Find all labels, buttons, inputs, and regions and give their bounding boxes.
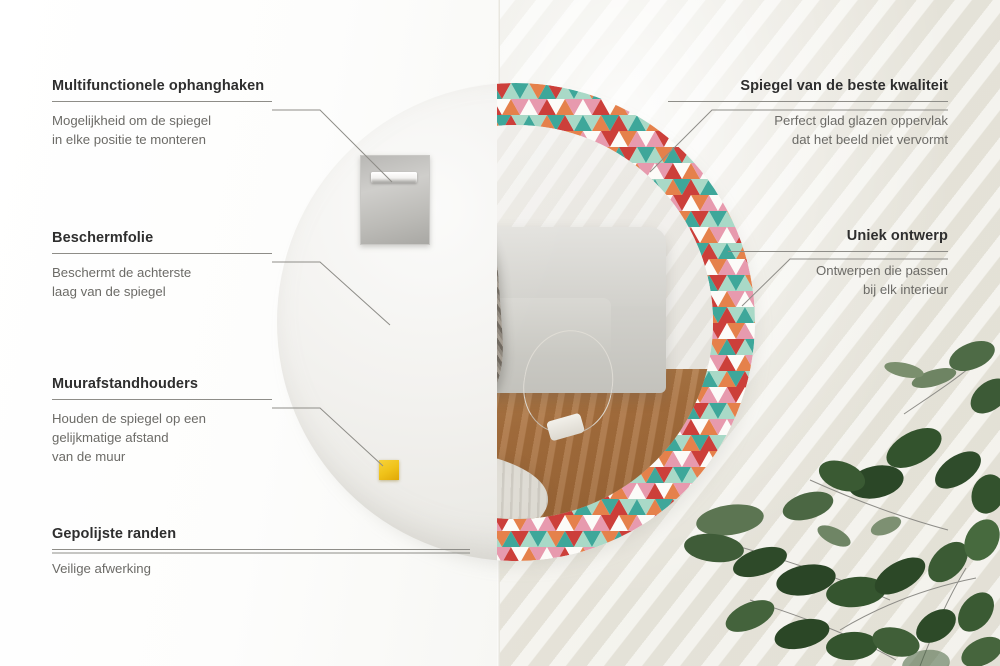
triangle-tile: [295, 99, 313, 115]
triangle-tile: [349, 115, 367, 131]
triangle-tile: [754, 163, 755, 179]
callout-rule: [52, 101, 272, 102]
triangle-tile: [313, 483, 331, 499]
triangle-tile: [277, 451, 295, 467]
product-mirror: [277, 83, 755, 561]
triangle-tile: [754, 515, 755, 531]
callout-title: Uniek ontwerp: [728, 228, 948, 244]
triangle-tile: [754, 211, 755, 227]
callout-title: Muurafstandhouders: [52, 376, 272, 392]
triangle-tile: [349, 99, 367, 115]
triangle-tile: [367, 99, 385, 115]
callout-rule: [668, 101, 948, 102]
triangle-tile: [277, 499, 286, 515]
triangle-tile: [304, 499, 322, 515]
callout-title: Spiegel van de beste kwaliteit: [668, 78, 948, 94]
triangle-tile: [277, 211, 295, 227]
triangle-tile: [358, 99, 376, 115]
triangle-tile: [277, 211, 286, 227]
callout-rule: [52, 549, 470, 550]
triangle-tile: [277, 131, 286, 147]
triangle-tile: [286, 115, 304, 131]
triangle-tile: [277, 467, 295, 483]
triangle-tile: [322, 499, 340, 515]
triangle-tile: [277, 467, 286, 483]
triangle-tile: [331, 499, 349, 515]
triangle-tile: [331, 131, 349, 147]
callout-description: Veilige afwerking: [52, 559, 470, 578]
triangle-tile: [313, 115, 331, 131]
triangle-tile: [277, 147, 286, 163]
callout-description: Perfect glad glazen oppervlak dat het be…: [668, 111, 948, 149]
triangle-tile: [754, 483, 755, 499]
triangle-tile: [304, 83, 322, 99]
triangle-tile: [277, 419, 295, 435]
triangle-tile: [754, 339, 755, 355]
callout-wall-spacers: Muurafstandhouders Houden de spiegel op …: [52, 376, 272, 466]
callout-description: Beschermt de achterste laag van de spieg…: [52, 263, 272, 301]
triangle-tile: [286, 179, 304, 195]
callout-rule: [52, 253, 272, 254]
triangle-tile: [277, 483, 295, 499]
triangle-tile: [313, 499, 331, 515]
triangle-tile: [322, 99, 340, 115]
triangle-tile: [277, 115, 295, 131]
triangle-tile: [277, 115, 286, 131]
triangle-tile: [295, 483, 313, 499]
triangle-tile: [277, 179, 286, 195]
triangle-tile: [331, 83, 349, 99]
callout-title: Multifunctionele ophanghaken: [52, 78, 272, 94]
triangle-tile: [277, 387, 286, 403]
callout-title: Gepolijste randen: [52, 526, 470, 542]
triangle-tile: [286, 83, 304, 99]
triangle-tile: [286, 435, 304, 451]
infographic-canvas: Multifunctionele ophanghaken Mogelijkhei…: [0, 0, 1000, 666]
triangle-tile: [754, 307, 755, 323]
triangle-tile: [331, 99, 349, 115]
triangle-tile: [331, 115, 349, 131]
triangle-tile: [286, 451, 304, 467]
triangle-tile: [394, 83, 412, 99]
triangle-tile: [304, 163, 322, 179]
triangle-tile: [322, 83, 340, 99]
triangle-tile: [367, 83, 385, 99]
triangle-tile: [277, 451, 286, 467]
triangle-tile: [295, 499, 313, 515]
triangle-tile: [277, 499, 295, 515]
triangle-tile: [286, 131, 304, 147]
triangle-tile: [277, 419, 286, 435]
triangle-tile: [277, 227, 286, 243]
triangle-tile: [295, 163, 313, 179]
triangle-tile: [286, 99, 304, 115]
triangle-tile: [295, 83, 313, 99]
triangle-tile: [277, 131, 295, 147]
triangle-tile: [295, 467, 313, 483]
triangle-tile: [340, 83, 358, 99]
triangle-tile: [304, 147, 322, 163]
triangle-tile: [754, 147, 755, 163]
triangle-tile: [376, 99, 394, 115]
triangle-tile: [277, 243, 286, 259]
triangle-tile: [754, 179, 755, 195]
triangle-tile: [754, 451, 755, 467]
triangle-tile: [277, 147, 295, 163]
triangle-tile: [322, 483, 340, 499]
callout-best-quality-mirror: Spiegel van de beste kwaliteit Perfect g…: [668, 78, 948, 149]
triangle-tile: [322, 147, 340, 163]
callout-rule: [728, 251, 948, 252]
callout-unique-design: Uniek ontwerp Ontwerpen die passen bij e…: [728, 228, 948, 299]
triangle-tile: [286, 195, 304, 211]
callout-description: Ontwerpen die passen bij elk interieur: [728, 261, 948, 299]
triangle-tile: [277, 179, 295, 195]
triangle-tile: [286, 147, 304, 163]
triangle-tile: [286, 467, 304, 483]
triangle-tile: [286, 483, 304, 499]
triangle-tile: [754, 195, 755, 211]
triangle-tile: [754, 531, 755, 547]
triangle-tile: [277, 435, 286, 451]
triangle-tile: [322, 115, 340, 131]
triangle-tile: [295, 147, 313, 163]
triangle-tile: [277, 195, 286, 211]
triangle-tile: [340, 115, 358, 131]
triangle-tile: [277, 163, 295, 179]
triangle-tile: [286, 163, 304, 179]
triangle-tile: [277, 195, 295, 211]
callout-title: Beschermfolie: [52, 230, 272, 246]
triangle-tile: [277, 99, 286, 115]
triangle-tile: [754, 355, 755, 371]
triangle-tile: [754, 419, 755, 435]
callout-description: Mogelijkheid om de spiegel in elke posit…: [52, 111, 272, 149]
triangle-tile: [304, 483, 322, 499]
triangle-tile: [412, 83, 430, 99]
triangle-tile: [313, 147, 331, 163]
triangle-tile: [295, 115, 313, 131]
triangle-tile: [277, 403, 286, 419]
triangle-tile: [754, 467, 755, 483]
triangle-tile: [295, 451, 313, 467]
callout-polished-edges: Gepolijste randen Veilige afwerking: [52, 526, 470, 578]
callout-description: Houden de spiegel op een gelijkmatige af…: [52, 409, 272, 466]
hanging-hook-plate: [360, 155, 430, 245]
callout-protective-foil: Beschermfolie Beschermt de achterste laa…: [52, 230, 272, 301]
triangle-tile: [277, 435, 295, 451]
triangle-tile: [277, 163, 286, 179]
triangle-tile: [754, 547, 755, 561]
triangle-tile: [358, 83, 376, 99]
triangle-tile: [313, 83, 331, 99]
triangle-tile: [403, 83, 421, 99]
triangle-tile: [277, 83, 286, 99]
triangle-tile: [754, 435, 755, 451]
triangle-tile: [304, 115, 322, 131]
hook-keyhole-slot: [371, 172, 417, 183]
triangle-tile: [754, 371, 755, 387]
triangle-tile: [286, 499, 304, 515]
triangle-tile: [313, 99, 331, 115]
triangle-tile: [385, 83, 403, 99]
triangle-tile: [295, 131, 313, 147]
triangle-tile: [277, 83, 295, 99]
callout-hanging-hooks: Multifunctionele ophanghaken Mogelijkhei…: [52, 78, 272, 149]
triangle-tile: [304, 99, 322, 115]
triangle-tile: [277, 483, 286, 499]
triangle-tile: [313, 131, 331, 147]
callout-rule: [52, 399, 272, 400]
triangle-tile: [304, 467, 322, 483]
triangle-tile: [376, 83, 394, 99]
triangle-tile: [322, 131, 340, 147]
triangle-tile: [754, 323, 755, 339]
triangle-tile: [295, 179, 313, 195]
triangle-tile: [340, 99, 358, 115]
triangle-tile: [349, 83, 367, 99]
triangle-tile: [277, 99, 295, 115]
wall-spacer: [379, 460, 399, 480]
triangle-tile: [754, 403, 755, 419]
triangle-tile: [304, 131, 322, 147]
triangle-tile: [754, 499, 755, 515]
triangle-tile: [754, 387, 755, 403]
